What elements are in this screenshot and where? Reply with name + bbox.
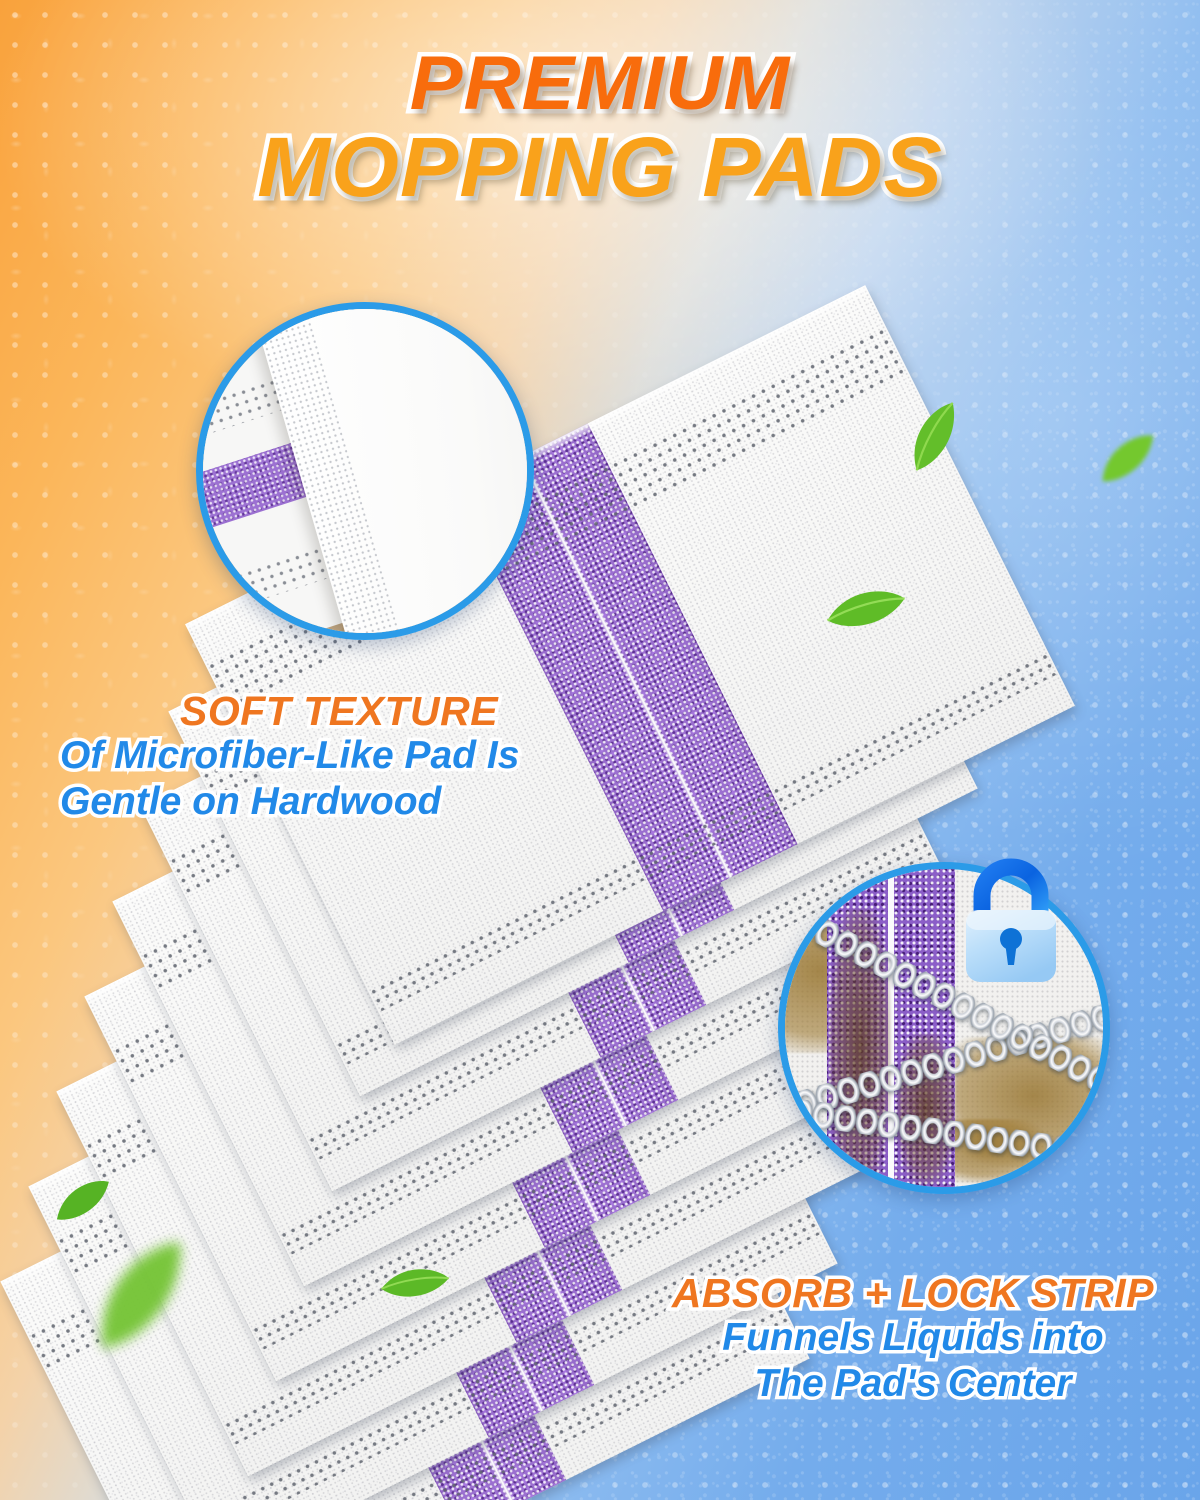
folded-pad-on-hardwood-inset — [196, 302, 534, 640]
stacked-mopping-pads — [0, 0, 1200, 1500]
padlock-icon — [952, 856, 1070, 991]
product-marketing-image: PREMIUM MOPPING PADS SOFT TEXTURE Of Mic… — [0, 0, 1200, 1500]
